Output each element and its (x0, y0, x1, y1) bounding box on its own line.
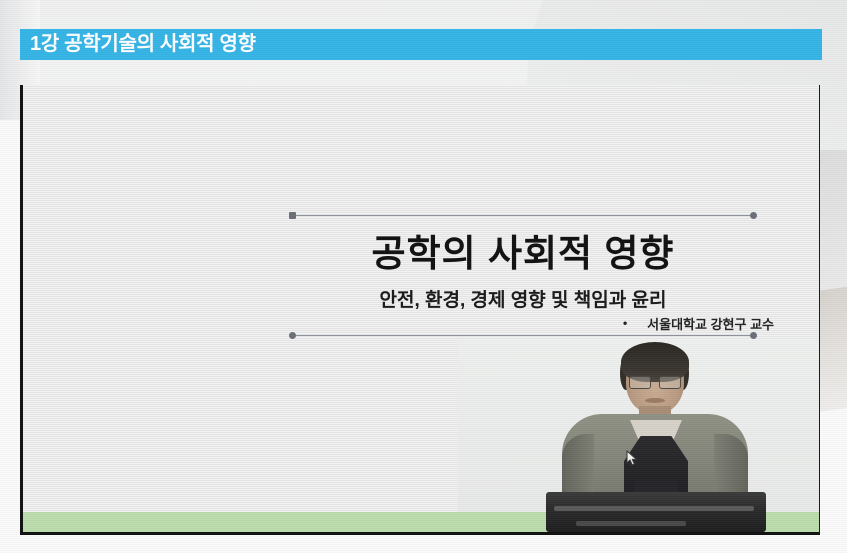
presenter-video-overlay[interactable] (458, 340, 820, 532)
glasses-lens-left (629, 376, 651, 389)
slide-subtitle: 안전, 환경, 경제 영향 및 책임과 윤리 (292, 285, 754, 312)
podium-edge-lower (576, 521, 686, 526)
selection-handle-top-left[interactable] (289, 212, 296, 219)
selection-handle-top-right[interactable] (750, 212, 757, 219)
slide-byline: •서울대학교 강현구 교수 (292, 314, 774, 333)
slide-frame[interactable]: 공학의 사회적 영향 안전, 환경, 경제 영향 및 책임과 윤리 •서울대학교… (20, 85, 820, 535)
slide-byline-text: 서울대학교 강현구 교수 (647, 317, 774, 332)
selection-line-top (292, 215, 754, 216)
podium (546, 492, 766, 532)
lesson-title-text: 1강 공학기술의 사회적 영향 (30, 31, 256, 58)
selection-line-bottom (292, 335, 754, 336)
presenter-glasses (629, 376, 681, 387)
slide-title: 공학의 사회적 영향 (292, 223, 754, 277)
selection-handle-bottom-right[interactable] (750, 332, 757, 339)
podium-edge-upper (554, 506, 754, 511)
bullet-glyph: • (623, 316, 627, 330)
glasses-lens-right (659, 376, 681, 389)
screen-capture: 1강 공학기술의 사회적 영향 공학의 사회적 영향 안전, 환경, 경제 영향… (0, 0, 847, 553)
presenter-mouth (645, 398, 665, 403)
selection-handle-bottom-left[interactable] (289, 332, 296, 339)
